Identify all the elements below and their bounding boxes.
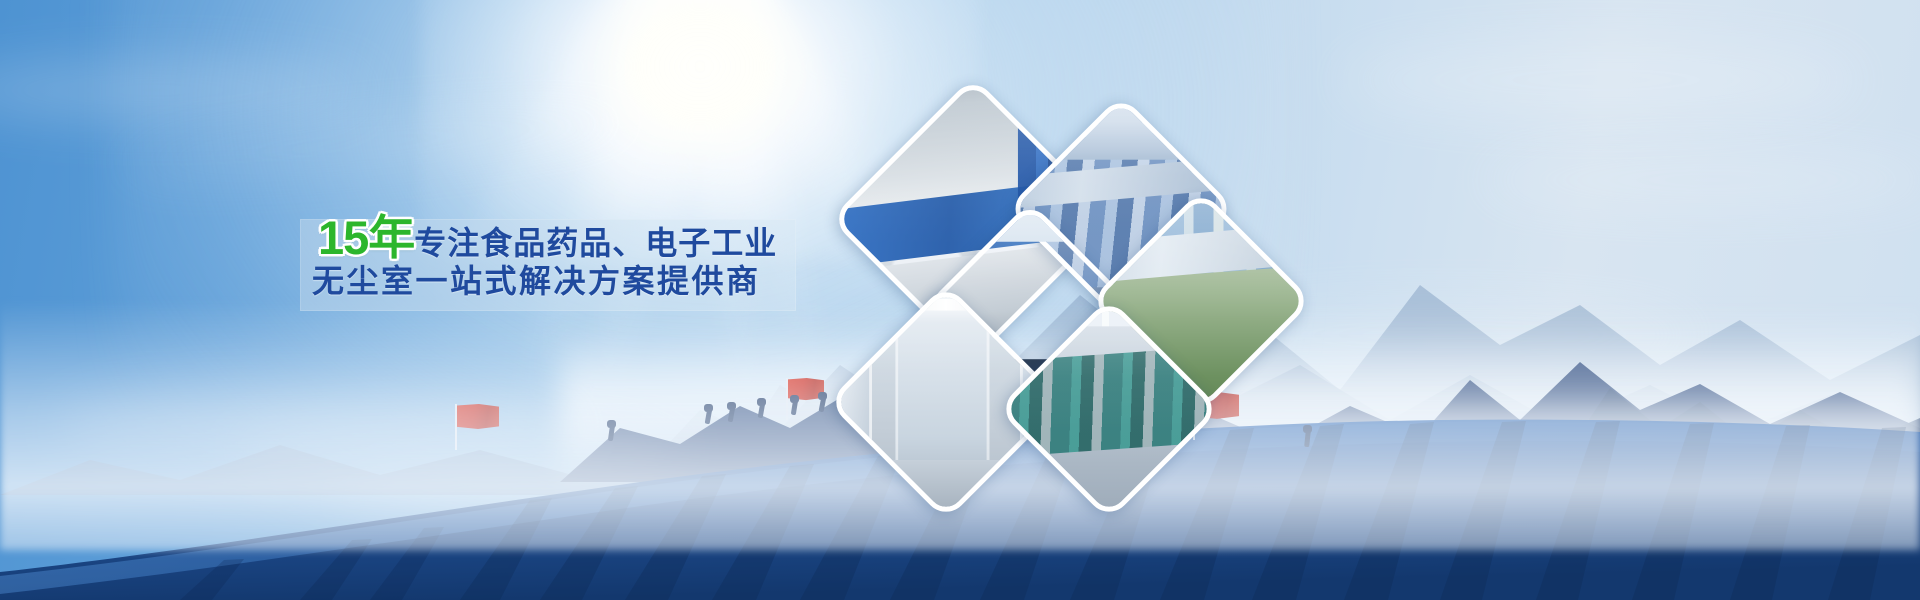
years-badge: 15年 xyxy=(318,211,414,264)
cloud xyxy=(1340,40,1860,120)
hero-banner: 15年专注食品药品、电子工业 无尘室一站式解决方案提供商 xyxy=(0,0,1920,600)
headline-block: 15年专注食品药品、电子工业 无尘室一站式解决方案提供商 xyxy=(300,200,820,310)
headline-line1-text: 专注食品药品、电子工业 xyxy=(414,225,777,261)
headline-line2-text: 无尘室一站式解决方案提供商 xyxy=(312,263,761,299)
